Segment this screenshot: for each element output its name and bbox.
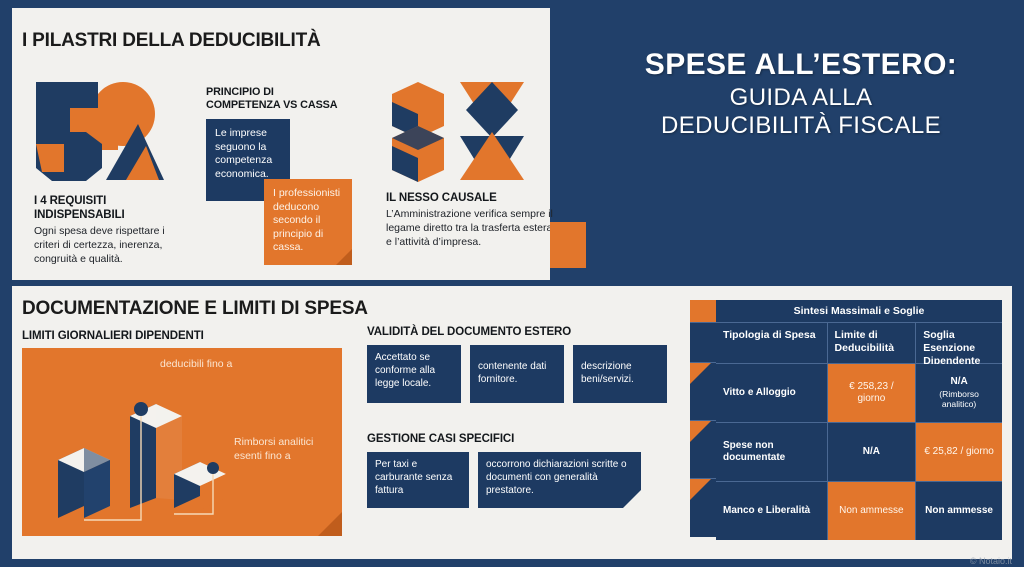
table-row-2-limit: N/A <box>828 423 917 481</box>
chart-annotation-rimborsi: Rimborsi analitici esenti fino a <box>234 436 330 463</box>
table-row: Manco e Liberalità Non ammesse Non ammes… <box>716 482 1002 540</box>
cases-card-row: Per taxi e carburante senza fattura occo… <box>367 452 667 508</box>
table-header-limite: Limite di Deducibilità <box>828 323 917 363</box>
table-header-limite-text: Limite di Deducibilità <box>835 329 909 355</box>
table-row-3-type: Manco e Liberalità <box>716 482 828 540</box>
pillars-panel: I PILASTRI DELLA DEDUCIBILITÀ I 4 REQUIS… <box>12 8 550 280</box>
table-row-3-limit: Non ammesse <box>828 482 917 540</box>
table-row-2-limit-text: N/A <box>863 446 880 459</box>
folded-corner-icon <box>318 512 342 536</box>
table-row-3-limit-text: Non ammesse <box>839 505 903 518</box>
corner-triangle-icon <box>690 363 711 384</box>
pillar-competenza: PRINCIPIO DI COMPETENZA VS CASSA Le impr… <box>206 86 366 269</box>
validity-card-2[interactable]: contenente dati fornitore. <box>470 345 564 403</box>
pillar-2-kicker: PRINCIPIO DI COMPETENZA VS CASSA <box>206 86 366 112</box>
note-card-professionisti: I professionisti deducono secondo il pri… <box>264 179 352 265</box>
pillar-2-kicker-line1: PRINCIPIO DI <box>206 86 366 99</box>
table-row-1-threshold: N/A (Rimborso analitico) <box>916 364 1002 422</box>
pillar-1-head-line1: I 4 REQUISITI <box>34 194 194 208</box>
cases-card-2[interactable]: occorrono dichiarazioni scritte o docume… <box>478 452 641 508</box>
isometric-cubes-icon <box>386 80 526 182</box>
table-row-1-limit: € 258,23 / giorno <box>828 364 917 422</box>
hero-line-2: GUIDA ALLA <box>596 84 1006 112</box>
page-title: I PILASTRI DELLA DEDUCIBILITÀ <box>22 30 321 52</box>
pillar-1-body: Ogni spesa deve rispettare i criteri di … <box>34 224 186 267</box>
validity-card-row: Accettato se conforme alla legge locale.… <box>367 345 667 403</box>
pillar-3-head: IL NESSO CAUSALE <box>386 191 558 205</box>
table-tab-row-1 <box>690 363 716 421</box>
daily-limits-chart: deducibili fino a Rimborsi analitici ese… <box>22 348 342 536</box>
table-row-1-threshold-sub: (Rimborso analitico) <box>923 389 995 410</box>
corner-triangle-icon <box>690 479 711 500</box>
table-header-tipologia: Tipologia di Spesa <box>716 323 828 363</box>
table-header-soglia-text: Soglia Esenzione Dipendente <box>923 329 995 368</box>
table-header-soglia: Soglia Esenzione Dipendente <box>916 323 1002 363</box>
table-header-row: Tipologia di Spesa Limite di Deducibilit… <box>716 323 1002 364</box>
chart-heading: LIMITI GIORNALIERI DIPENDENTI <box>22 330 204 342</box>
table-tab-row-2 <box>690 421 716 479</box>
table-row-1-type: Vitto e Alloggio <box>716 364 828 422</box>
cases-heading: GESTIONE CASI SPECIFICI <box>367 433 667 445</box>
table-tab-title <box>690 300 716 323</box>
hero-line-1: SPESE ALL’ESTERO: <box>596 48 1006 82</box>
cases-card-1-text: Per taxi e carburante senza fattura <box>375 459 452 496</box>
pillar-2-kicker-line2: COMPETENZA VS CASSA <box>206 99 366 112</box>
hero-line-3: DEDUCIBILITÀ FISCALE <box>596 112 1006 140</box>
middle-cards-column: VALIDITÀ DEL DOCUMENTO ESTERO Accettato … <box>367 326 667 508</box>
geometric-shapes-icon <box>34 80 164 185</box>
pillars-row: I 4 REQUISITI INDISPENSABILI Ogni spesa … <box>34 80 554 280</box>
note-card-imprese-text: Le imprese seguono la competenza economi… <box>215 127 272 180</box>
table-row-1-limit-text: € 258,23 / giorno <box>835 381 909 406</box>
chart-annotation-deducibili: deducibili fino a <box>160 358 290 372</box>
infographic-canvas: I PILASTRI DELLA DEDUCIBILITÀ I 4 REQUIS… <box>0 0 1024 567</box>
table-row-2-threshold-text: € 25,82 / giorno <box>924 446 994 459</box>
pillar-3-body: L’Amministrazione verifica sempre il leg… <box>386 207 556 250</box>
table-tab-row-3 <box>690 479 716 537</box>
table-row-2-type: Spese non documentate <box>716 423 828 481</box>
validity-heading: VALIDITÀ DEL DOCUMENTO ESTERO <box>367 326 667 338</box>
validity-card-1-text: Accettato se conforme alla legge locale. <box>375 352 435 389</box>
watermark: © Notaio.it <box>970 556 1012 566</box>
hero-title: SPESE ALL’ESTERO: GUIDA ALLA DEDUCIBILIT… <box>596 48 1006 140</box>
validity-card-2-text: contenente dati fornitore. <box>478 361 556 387</box>
table-row: Spese non documentate N/A € 25,82 / gior… <box>716 423 1002 482</box>
cases-card-1[interactable]: Per taxi e carburante senza fattura <box>367 452 469 508</box>
table-tab-column <box>690 300 716 540</box>
pillar-1-head-line2: INDISPENSABILI <box>34 208 194 222</box>
table-row-2-threshold: € 25,82 / giorno <box>916 423 1002 481</box>
corner-triangle-icon <box>690 421 711 442</box>
folded-corner-icon <box>623 490 641 508</box>
note-card-professionisti-text: I professionisti deducono secondo il pri… <box>273 187 340 254</box>
pillar-requisiti: I 4 REQUISITI INDISPENSABILI Ogni spesa … <box>34 80 194 267</box>
cases-card-2-text: occorrono dichiarazioni scritte o docume… <box>486 459 627 496</box>
validity-card-1[interactable]: Accettato se conforme alla legge locale. <box>367 345 461 403</box>
folded-corner-icon <box>336 249 352 265</box>
documentation-title: DOCUMENTAZIONE E LIMITI DI SPESA <box>22 298 368 320</box>
accent-square-decoration <box>550 222 586 268</box>
validity-card-3-text: descrizione beni/servizi. <box>581 361 659 387</box>
pillar-nesso-causale: IL NESSO CAUSALE L’Amministrazione verif… <box>386 80 558 250</box>
table-row-3-threshold-text: Non ammesse <box>925 505 993 518</box>
table-title: Sintesi Massimali e Soglie <box>716 300 1002 323</box>
table-row: Vitto e Alloggio € 258,23 / giorno N/A (… <box>716 364 1002 423</box>
summary-table: Sintesi Massimali e Soglie Tipologia di … <box>690 300 1002 540</box>
table-tab-header <box>690 323 716 363</box>
table-row-3-threshold: Non ammesse <box>916 482 1002 540</box>
table-header-tipologia-text: Tipologia di Spesa <box>723 329 820 342</box>
table-row-1-threshold-text: N/A <box>950 376 967 389</box>
validity-card-3[interactable]: descrizione beni/servizi. <box>573 345 667 403</box>
